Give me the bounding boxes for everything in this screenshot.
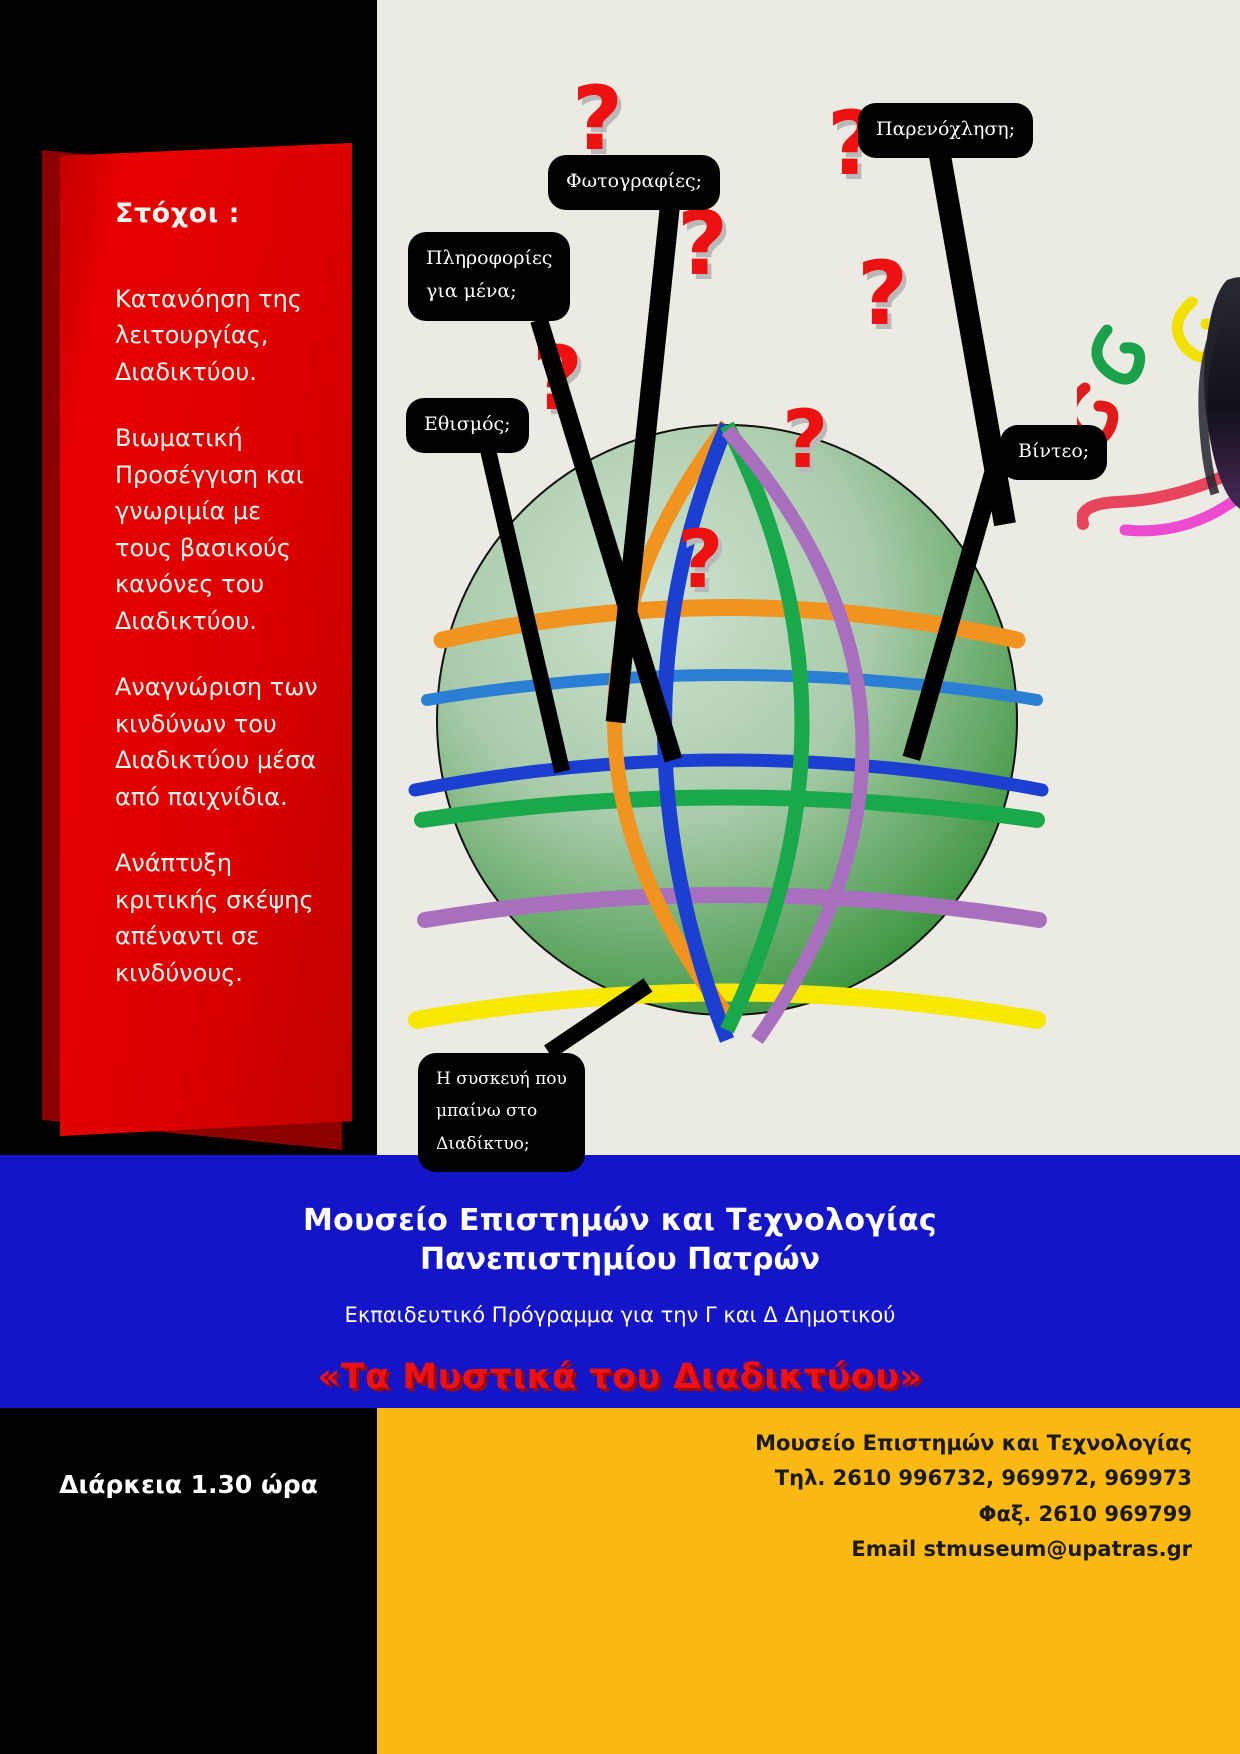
objective-item: Κατανόηση της λειτουργίας, Διαδικτύου. <box>115 281 325 390</box>
objectives-box: Στόχοι : Κατανόηση της λειτουργίας, Διαδ… <box>60 143 352 1136</box>
contact-org: Μουσείο Επιστημών και Τεχνολογίας <box>755 1426 1192 1461</box>
bubble-fotografies[interactable]: Φωτογραφίες; <box>548 155 720 210</box>
poster-root: ? ? ? ? ? ? ? Στόχοι : Κατανόηση της λει… <box>0 0 1240 1754</box>
objectives-title: Στόχοι : <box>115 198 332 229</box>
bubble-syskevi[interactable]: Η συσκευή που μπαίνω στο Διαδίκτυο; <box>418 1053 585 1172</box>
bubble-ethismos[interactable]: Εθισμός; <box>406 398 529 453</box>
objective-item: Βιωματική Προσέγγιση και γνωριμία με του… <box>115 420 325 639</box>
footer-contact-panel: Μουσείο Επιστημών και Τεχνολογίας Τηλ. 2… <box>377 1408 1240 1754</box>
artwork-panel: ? ? ? ? ? ? ? <box>377 0 1240 1155</box>
duration-label: Διάρκεια 1.30 ώρα <box>0 1470 377 1499</box>
objective-item: Αναγνώριση των κινδύνων του Διαδικτύου μ… <box>115 669 325 815</box>
contact-fax: Φαξ. 2610 969799 <box>755 1497 1192 1532</box>
blue-banner: Μουσείο Επιστημών και Τεχνολογίας Πανεπι… <box>0 1155 1240 1408</box>
museum-name-line2: Πανεπιστημίου Πατρών <box>0 1242 1240 1277</box>
question-mark: ? <box>782 400 828 480</box>
museum-name-line1: Μουσείο Επιστημών και Τεχνολογίας <box>0 1155 1240 1238</box>
bubble-parenoxlisi[interactable]: Παρενόχληση; <box>858 103 1033 158</box>
question-mark: ? <box>572 75 623 163</box>
objective-item: Ανάπτυξη κριτικής σκέψης απέναντι σε κιν… <box>115 845 325 991</box>
question-mark: ? <box>677 520 723 600</box>
question-mark: ? <box>677 200 728 288</box>
question-mark: ? <box>857 250 908 338</box>
footer-black-area <box>0 1408 377 1754</box>
program-title: «Τα Μυστικά του Διαδικτύου» <box>0 1357 1240 1397</box>
contact-tel: Τηλ. 2610 996732, 969972, 969973 <box>755 1461 1192 1496</box>
bubble-vinteo[interactable]: Βίντεο; <box>1000 425 1107 480</box>
bubble-plirofories[interactable]: Πληροφορίες για μένα; <box>408 232 570 321</box>
program-subtitle: Εκπαιδευτικό Πρόγραμμα για την Γ και Δ Δ… <box>0 1303 1240 1327</box>
contact-email[interactable]: Email stmuseum@upatras.gr <box>755 1532 1192 1567</box>
